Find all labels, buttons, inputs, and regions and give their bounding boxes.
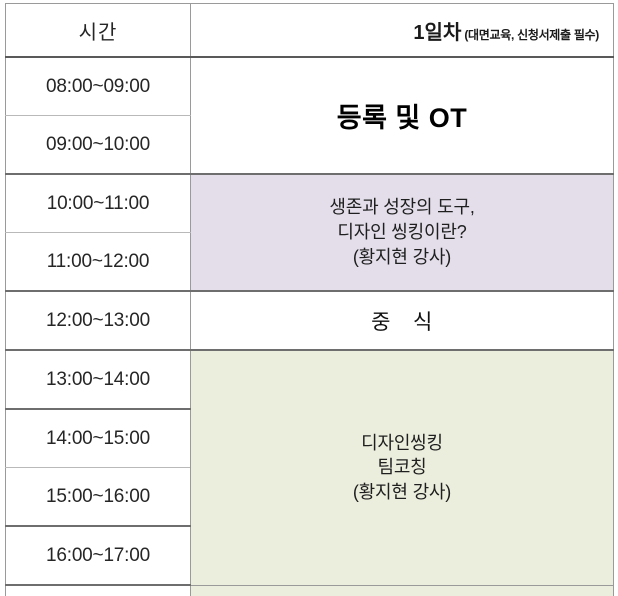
- header-day-label: 1일차: [413, 22, 461, 44]
- session-cell-lunch: 중식: [191, 291, 614, 350]
- header-cell-time: 시간: [6, 4, 191, 58]
- session-coaching-line-1: 디자인씽킹: [191, 431, 613, 456]
- time-cell-4: 12:00~13:00: [6, 291, 191, 350]
- time-cell-3: 11:00~12:00: [6, 233, 191, 292]
- table-row-clipped: [6, 585, 614, 596]
- header-cell-day: 1일차(대면교육, 신청서제출 필수): [191, 4, 614, 58]
- time-cell-7: 15:00~16:00: [6, 468, 191, 527]
- table-row: 10:00~11:00 생존과 성장의 도구, 디자인 씽킹이란? (황지현 강…: [6, 174, 614, 233]
- time-cell-0: 08:00~09:00: [6, 57, 191, 116]
- session-cell-registration: 등록 및 OT: [191, 57, 614, 174]
- header-day-group: 1일차(대면교육, 신청서제출 필수): [191, 16, 613, 45]
- time-cell-8: 16:00~17:00: [6, 526, 191, 585]
- time-cell-2: 10:00~11:00: [6, 174, 191, 233]
- table-row: 13:00~14:00 디자인씽킹 팀코칭 (황지현 강사): [6, 350, 614, 409]
- session-lunch-part-2: 식: [413, 311, 433, 334]
- time-cell-6: 14:00~15:00: [6, 409, 191, 468]
- session-lunch-label: 중식: [371, 311, 433, 334]
- session-registration-title: 등록 및 OT: [337, 103, 468, 133]
- session-cell-team-coaching: 디자인씽킹 팀코칭 (황지현 강사): [191, 350, 614, 585]
- session-lunch-part-1: 중: [371, 311, 391, 334]
- session-lecture-line-1: 생존과 성장의 도구,: [191, 195, 613, 220]
- header-time-label: 시간: [79, 22, 118, 44]
- session-lecture-line-2: 디자인 씽킹이란?: [191, 220, 613, 245]
- table-row: 08:00~09:00 등록 및 OT: [6, 57, 614, 116]
- clipped-session-cell: [191, 585, 614, 596]
- schedule-table: 시간 1일차(대면교육, 신청서제출 필수) 08:00~09:00 등록 및 …: [5, 3, 614, 596]
- session-cell-design-thinking-lecture: 생존과 성장의 도구, 디자인 씽킹이란? (황지현 강사): [191, 174, 614, 291]
- header-day-note: (대면교육, 신청서제출 필수): [464, 28, 599, 42]
- session-coaching-line-2: 팀코칭: [191, 455, 613, 480]
- clipped-time-cell: [6, 585, 191, 596]
- time-cell-5: 13:00~14:00: [6, 350, 191, 409]
- schedule-sheet: 시간 1일차(대면교육, 신청서제출 필수) 08:00~09:00 등록 및 …: [0, 0, 618, 571]
- table-header-row: 시간 1일차(대면교육, 신청서제출 필수): [6, 4, 614, 58]
- session-coaching-line-3: (황지현 강사): [191, 480, 613, 505]
- session-lecture-line-3: (황지현 강사): [191, 245, 613, 270]
- time-cell-1: 09:00~10:00: [6, 116, 191, 175]
- table-row: 12:00~13:00 중식: [6, 291, 614, 350]
